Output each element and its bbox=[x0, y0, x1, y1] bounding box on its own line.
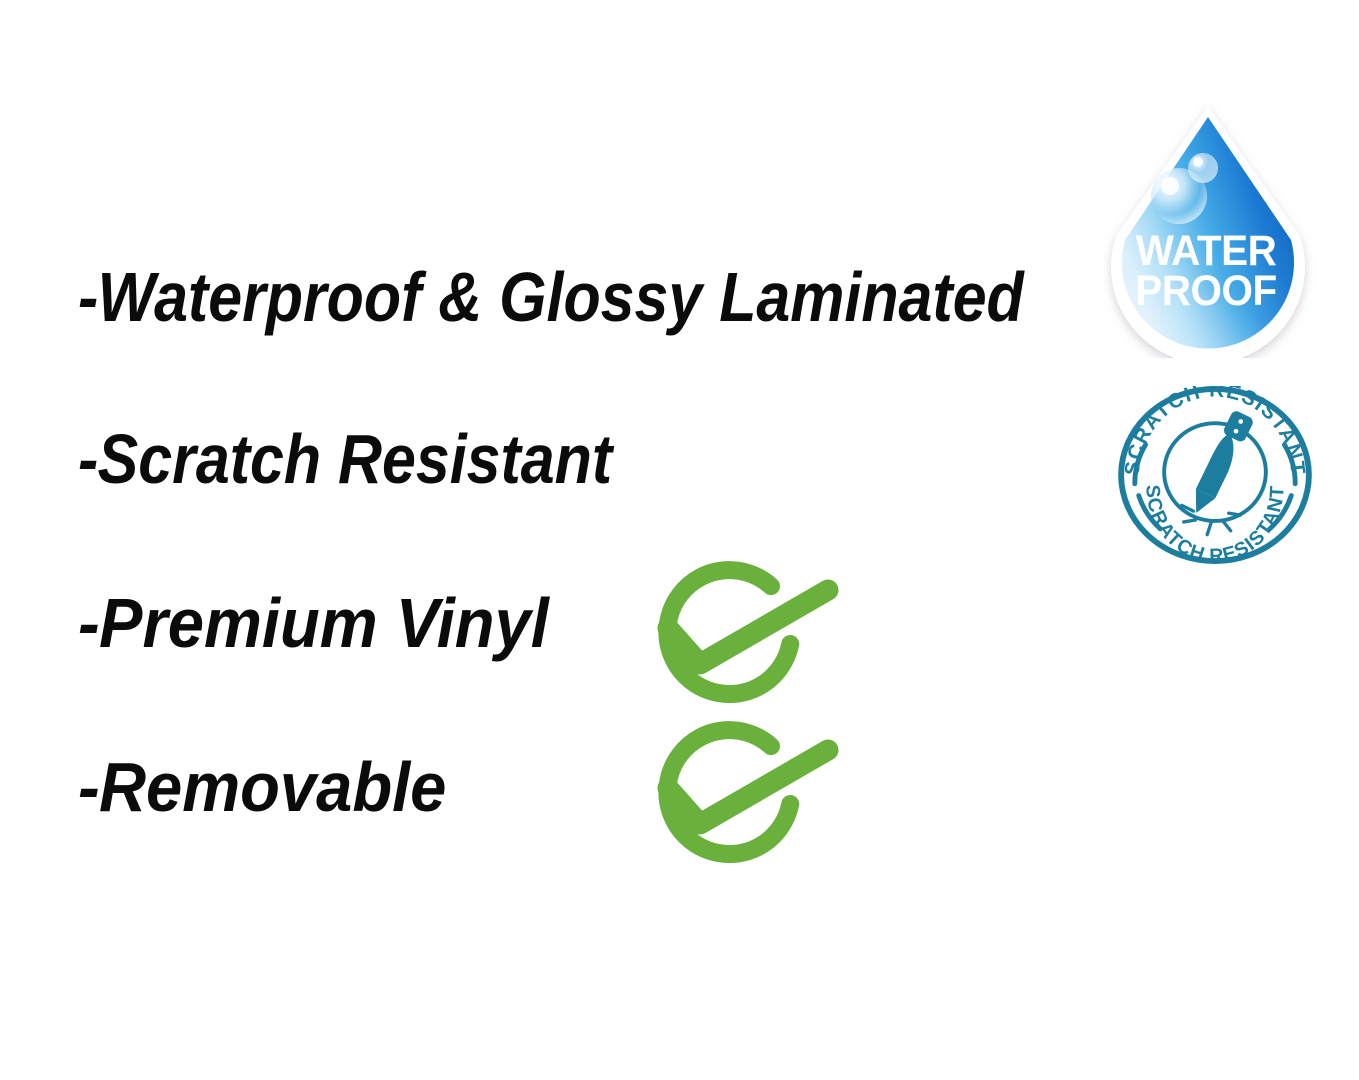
water-drop-icon bbox=[1104, 100, 1318, 358]
feature-item-premium-vinyl: -Premium Vinyl bbox=[78, 588, 549, 658]
check-circle-icon bbox=[632, 556, 850, 708]
feature-label: Scratch Resistant bbox=[98, 420, 612, 498]
feature-label: Waterproof & Glossy Laminated bbox=[98, 258, 1024, 336]
knife-stamp-icon: SCRATCH RESISTANT SCRATCH RESISTANT bbox=[1117, 386, 1313, 564]
waterproof-badge: WATER PROOF bbox=[1104, 100, 1318, 358]
feature-item-removable: -Removable bbox=[78, 752, 446, 822]
feature-item-scratch-resistant: -Scratch Resistant bbox=[78, 424, 612, 494]
check-premium-vinyl bbox=[632, 556, 850, 708]
feature-label: Removable bbox=[99, 748, 446, 826]
product-feature-graphic: -Waterproof & Glossy Laminated -Scratch … bbox=[0, 0, 1359, 1080]
feature-dash: - bbox=[78, 258, 98, 336]
feature-label: Premium Vinyl bbox=[99, 584, 549, 662]
feature-item-waterproof-glossy-laminated: -Waterproof & Glossy Laminated bbox=[78, 262, 1024, 332]
feature-dash: - bbox=[78, 584, 99, 662]
feature-dash: - bbox=[78, 748, 99, 826]
check-circle-icon bbox=[632, 716, 850, 868]
scratch-resistant-badge: SCRATCH RESISTANT SCRATCH RESISTANT bbox=[1117, 386, 1313, 564]
bubble-small-icon bbox=[1188, 153, 1218, 183]
feature-dash: - bbox=[78, 420, 98, 498]
check-removable bbox=[632, 716, 850, 868]
